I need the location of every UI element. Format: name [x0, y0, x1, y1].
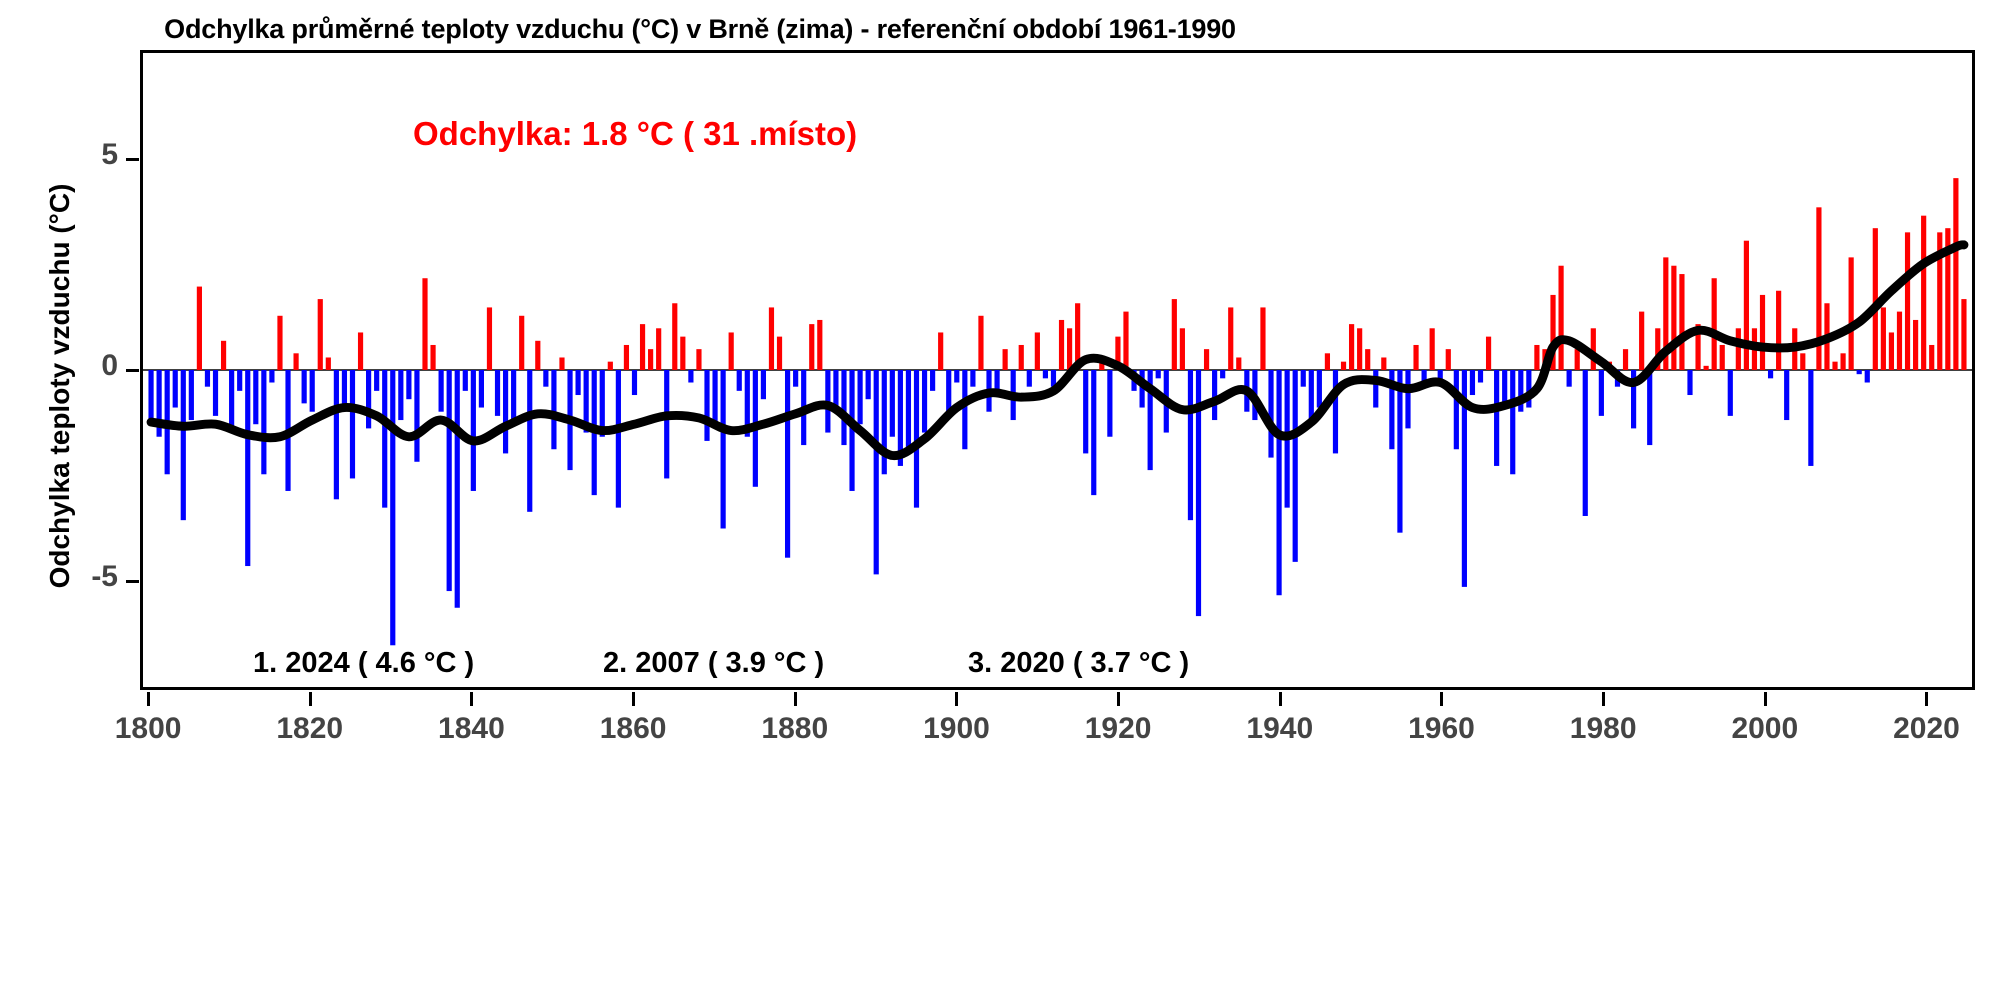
- x-tick-label-1960: 1960: [1371, 712, 1511, 746]
- x-tick-label-1900: 1900: [886, 712, 1026, 746]
- x-tick-mark-1960: [1440, 692, 1443, 706]
- x-tick-mark-1820: [309, 692, 312, 706]
- x-tick-label-1940: 1940: [1210, 712, 1350, 746]
- y-tick-mark-5: [126, 158, 139, 161]
- x-tick-mark-2020: [1925, 692, 1928, 706]
- x-tick-mark-1940: [1279, 692, 1282, 706]
- chart-root: Odchylka průměrné teploty vzduchu (°C) v…: [0, 0, 2000, 1000]
- y-tick-mark--5: [126, 580, 139, 583]
- x-tick-mark-2000: [1764, 692, 1767, 706]
- rank-note-2: 2. 2007 ( 3.9 °C ): [603, 647, 824, 680]
- x-tick-mark-1880: [794, 692, 797, 706]
- x-tick-mark-1920: [1117, 692, 1120, 706]
- y-axis-label: Odchylka teploty vzduchu (°C): [44, 86, 76, 686]
- x-tick-label-1840: 1840: [401, 712, 541, 746]
- y-tick-mark-0: [126, 369, 139, 372]
- rank-note-1: 1. 2024 ( 4.6 °C ): [253, 647, 474, 680]
- x-tick-mark-1860: [632, 692, 635, 706]
- trend-line: [151, 245, 1964, 456]
- x-tick-mark-1840: [470, 692, 473, 706]
- x-tick-label-1980: 1980: [1533, 712, 1673, 746]
- x-tick-label-1920: 1920: [1048, 712, 1188, 746]
- x-tick-mark-1800: [147, 692, 150, 706]
- x-tick-label-1860: 1860: [563, 712, 703, 746]
- deviation-annotation: Odchylka: 1.8 °C ( 31 .místo): [413, 115, 857, 153]
- x-tick-mark-1980: [1602, 692, 1605, 706]
- x-tick-label-1800: 1800: [78, 712, 218, 746]
- x-tick-label-1880: 1880: [725, 712, 865, 746]
- page-title: Odchylka průměrné teploty vzduchu (°C) v…: [0, 14, 1400, 45]
- rank-note-3: 3. 2020 ( 3.7 °C ): [968, 647, 1189, 680]
- x-tick-label-2020: 2020: [1856, 712, 1996, 746]
- x-tick-label-2000: 2000: [1695, 712, 1835, 746]
- x-tick-label-1820: 1820: [240, 712, 380, 746]
- y-tick-label-5: 5: [0, 138, 118, 172]
- y-tick-label-0: 0: [0, 349, 118, 383]
- y-tick-label--5: -5: [0, 560, 118, 594]
- x-tick-mark-1900: [955, 692, 958, 706]
- plot-area: Odchylka: 1.8 °C ( 31 .místo) 1. 2024 ( …: [140, 50, 1975, 690]
